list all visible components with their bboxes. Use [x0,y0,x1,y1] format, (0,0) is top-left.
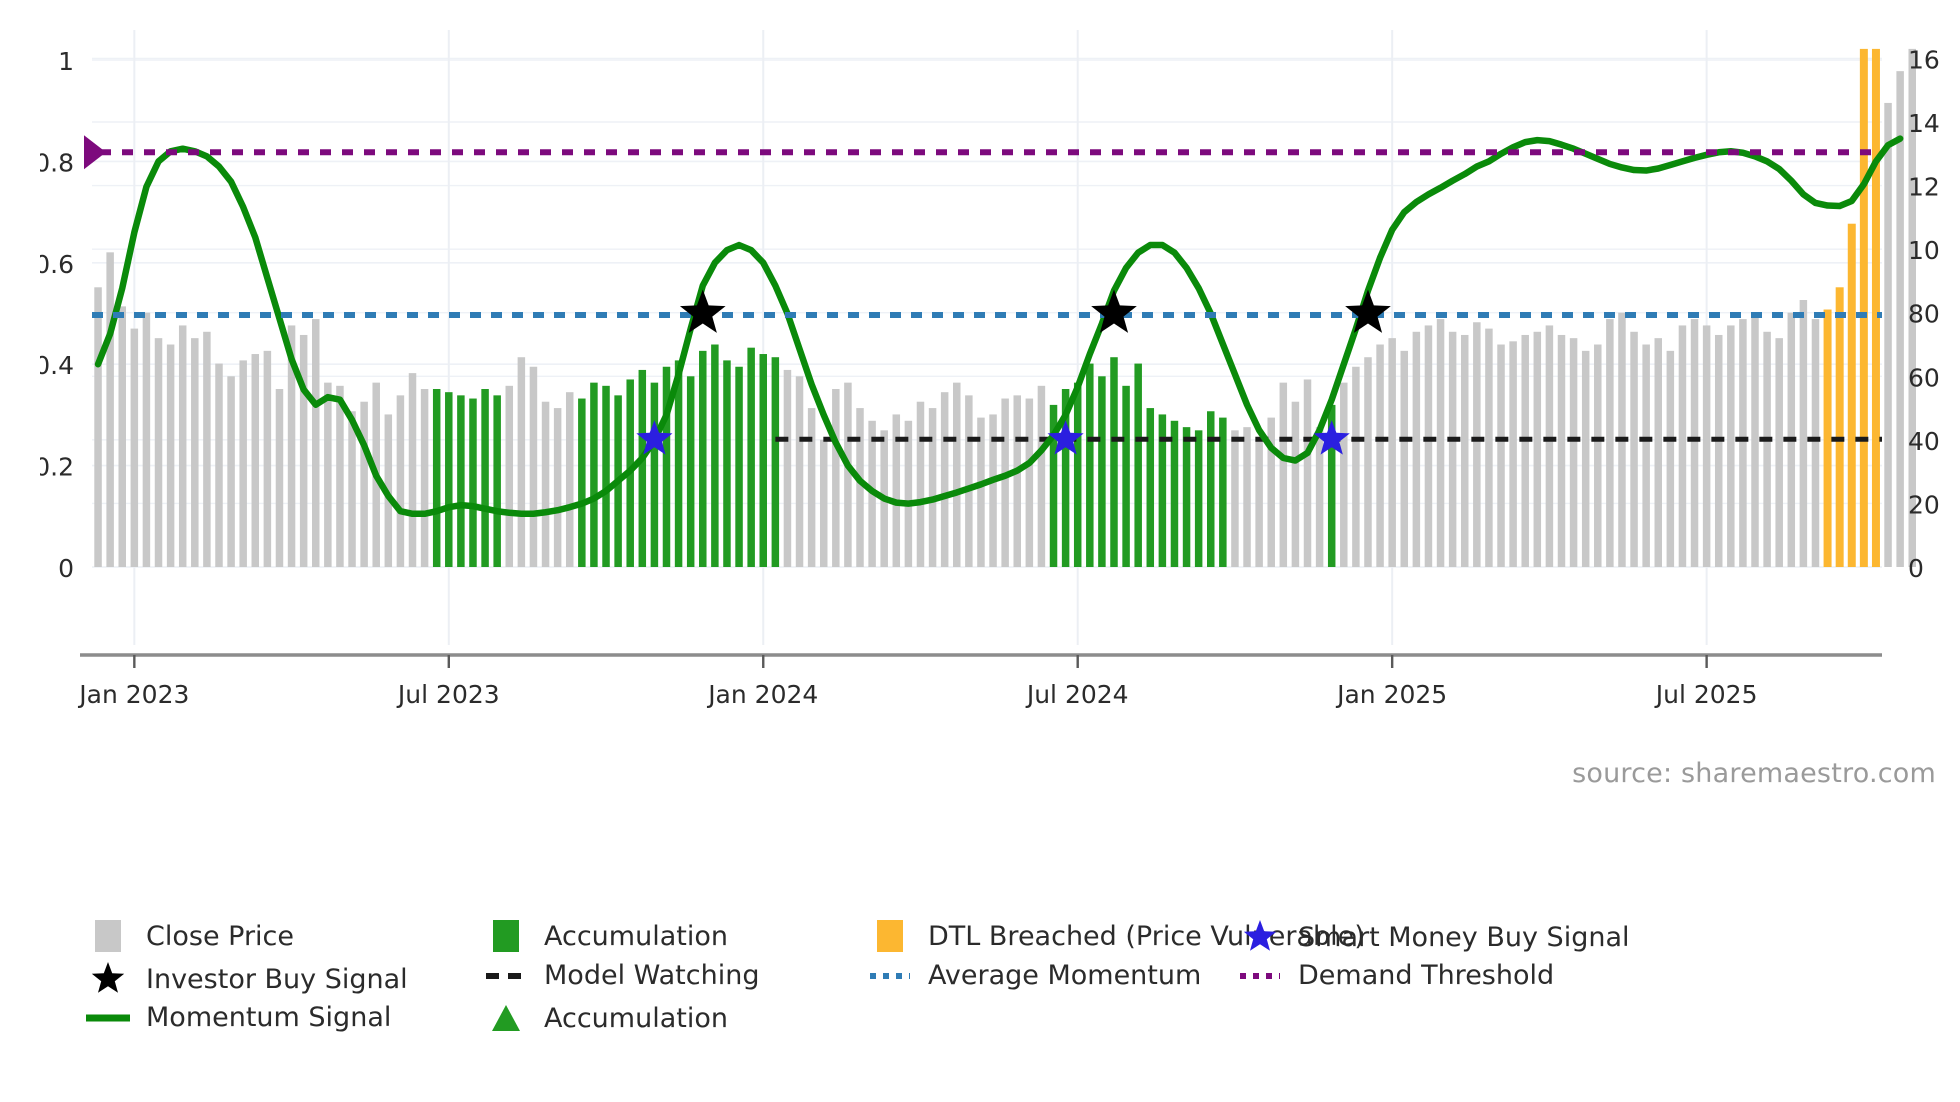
close-price-bar [143,313,150,567]
close-price-bar [699,351,706,567]
close-price-bar [1171,421,1178,567]
demand-threshold-start-marker [84,135,106,169]
chart-root: Jan 2023Jul 2023Jan 2024Jul 2024Jan 2025… [0,0,1960,1102]
close-price-bar [397,395,404,567]
y-axis-left-tick-label: 0.8 [40,148,74,177]
y-axis-right-tick-label: 60 [1908,363,1940,392]
x-tick-label: Jan 2023 [77,680,189,709]
close-price-bar [1292,402,1299,567]
close-price-bar [518,357,525,567]
square-icon [86,918,130,954]
close-price-bar [1824,310,1832,567]
close-price-bar [639,370,646,567]
close-price-bar [602,386,609,567]
legend-item-close-price[interactable]: Close Price [86,918,294,954]
close-price-bar [1558,335,1565,567]
close-price-bar [1473,322,1480,567]
momentum-signal-line [98,139,1900,514]
close-price-bar [1497,345,1504,568]
close-price-bar [131,329,138,567]
y-axis-right-tick-label: 140 [1908,109,1940,138]
y-axis-left-tick-label: 0.6 [40,250,74,279]
close-price-bar [578,399,585,567]
close-price-bar [1074,383,1081,567]
close-price-bar [735,367,742,567]
close-price-bar [94,287,101,567]
close-price-bar [264,351,271,567]
legend-label: Investor Buy Signal [146,964,408,995]
close-price-bar [1231,430,1238,567]
close-price-bar [1026,399,1033,567]
close-price-bar [239,360,246,567]
close-price-bar [1594,345,1601,568]
close-price-bar [1255,440,1262,567]
close-price-bar [1013,395,1020,567]
close-price-bar [1570,338,1577,567]
close-price-bar [566,392,573,567]
close-price-bar [1655,338,1662,567]
close-price-bar [1147,408,1154,567]
close-price-bar [1751,316,1758,567]
close-price-bar [203,332,210,567]
legend-label: Model Watching [544,960,759,991]
close-price-bar [481,389,488,567]
close-price-bar [1280,383,1287,567]
close-price-bar [1401,351,1408,567]
close-price-bar [832,389,839,567]
y-axis-right-tick-label: 20 [1908,490,1940,519]
investor-buy-signal-star [680,290,726,333]
close-price-bar [1642,345,1649,568]
legend-label: Accumulation [544,921,728,952]
close-price-bar [1195,430,1202,567]
x-tick-label: Jan 2025 [1335,680,1447,709]
close-price-bar [336,386,343,567]
close-price-bar [1364,357,1371,567]
close-price-bar [118,306,125,567]
legend-item-momentum-signal[interactable]: Momentum Signal [86,1002,391,1033]
close-price-bar [687,376,694,567]
close-price-bar [590,383,597,567]
close-price-bar [1207,411,1214,567]
legend-row: Close PriceAccumulationDTL Breached (Pri… [86,918,1886,960]
close-price-bar [1691,319,1698,567]
close-price-bar [1122,386,1129,567]
legend-label: Close Price [146,921,294,952]
y-axis-right-tick-label: 160 [1908,45,1940,74]
close-price-bar [1425,325,1432,567]
close-price-bar [348,411,355,567]
close-price-bar [723,360,730,567]
close-price-bar [252,354,259,567]
close-price-bar [445,392,452,567]
legend-label: Accumulation [544,1003,728,1034]
close-price-bar [929,408,936,567]
chart-plot-area: Jan 2023Jul 2023Jan 2024Jul 2024Jan 2025… [40,30,1840,710]
legend-label: Average Momentum [928,960,1201,991]
close-price-bar [1485,329,1492,567]
square-icon [868,918,912,954]
dash-icon [484,966,528,986]
legend-item-accumulation-bar[interactable]: Accumulation [484,918,728,954]
legend-item-investor-buy-signal[interactable]: Investor Buy Signal [86,960,408,998]
close-price-bar [457,395,464,567]
source-note: source: sharemaestro.com [1572,758,1936,789]
close-price-bar [844,383,851,567]
close-price-bar [905,421,912,567]
close-price-bar [941,392,948,567]
y-axis-left-tick-label: 0 [58,554,74,583]
triangle-icon [484,1002,528,1034]
close-price-bar [1110,357,1117,567]
close-price-bar [360,402,367,567]
dot-icon [868,966,912,986]
close-price-bar [808,408,815,567]
star-icon [86,960,130,998]
close-price-bar [1086,364,1093,567]
close-price-bar [1630,332,1637,567]
close-price-bar [1461,335,1468,567]
close-price-bar [493,395,500,567]
close-price-bar [917,402,924,567]
close-price-bar [300,335,307,567]
y-axis-left-tick-label: 0.2 [40,453,74,482]
close-price-bar [1836,287,1844,567]
close-price-bar [409,373,416,567]
close-price-bar [796,376,803,567]
close-price-bar [711,345,718,568]
chart-svg: Jan 2023Jul 2023Jan 2024Jul 2024Jan 2025… [40,30,1940,710]
close-price-bar [1703,325,1710,567]
close-price-bar [1546,325,1553,567]
close-price-bar [1352,367,1359,567]
close-price-bar [1509,341,1516,567]
close-price-bar [312,319,319,567]
close-price-bar [1388,338,1395,567]
close-price-bar [530,367,537,567]
close-price-bar [1413,332,1420,567]
close-price-bar [506,386,513,567]
close-price-bar [1667,351,1674,567]
close-price-bar [1340,383,1347,567]
close-price-bar [433,389,440,567]
close-price-bar [1848,224,1856,567]
close-price-bar [965,395,972,567]
close-price-bar [820,440,827,567]
y-axis-right-tick-label: 100 [1908,236,1940,265]
close-price-bar [1449,332,1456,567]
y-axis-right-tick-label: 0 [1908,554,1924,583]
close-price-bar [1800,300,1807,567]
close-price-bar [1812,319,1819,567]
close-price-bar [1763,332,1770,567]
x-tick-label: Jul 2024 [1025,680,1129,709]
close-price-bar [1001,399,1008,567]
legend-item-accumulation-triangle[interactable]: Accumulation [484,1002,728,1034]
y-axis-right-tick-label: 80 [1908,300,1940,329]
close-price-bar [1727,325,1734,567]
close-price-bar [1098,376,1105,567]
close-price-bar [421,389,428,567]
close-price-bar [1884,103,1891,567]
legend-item-demand-threshold[interactable]: Demand Threshold [1238,960,1554,991]
legend-label: Momentum Signal [146,1002,391,1033]
close-price-bar [953,383,960,567]
close-price-bar [1183,427,1190,567]
close-price-bar [1715,335,1722,567]
y-axis-left-tick-label: 0.4 [40,351,74,380]
close-price-bar [542,402,549,567]
investor-buy-signal-star [1345,290,1391,333]
close-price-bar [227,376,234,567]
close-price-bar [179,325,186,567]
close-price-bar [1582,351,1589,567]
legend-item-smart-money-buy-signal[interactable]: Smart Money Buy Signal [1238,918,1630,956]
close-price-bar [760,354,767,567]
line-icon [86,1008,130,1028]
close-price-bar [167,345,174,568]
close-price-bar [1038,386,1045,567]
legend-label: Smart Money Buy Signal [1298,922,1630,953]
close-price-bar [1872,49,1880,567]
close-price-bar [1679,325,1686,567]
dot-icon [1238,966,1282,986]
close-price-bar [1376,345,1383,568]
close-price-bar [1521,335,1528,567]
legend-row: Momentum SignalAccumulation [86,1002,1886,1044]
close-price-bar [554,408,561,567]
square-icon [484,918,528,954]
close-price-bar [1243,427,1250,567]
close-price-bar [1739,319,1746,567]
chart-legend: Close PriceAccumulationDTL Breached (Pri… [86,918,1886,1048]
x-tick-label: Jul 2025 [1654,680,1758,709]
close-price-bar [106,252,113,567]
close-price-bar [1437,319,1444,567]
legend-label: Demand Threshold [1298,960,1554,991]
x-tick-label: Jul 2023 [396,680,500,709]
x-tick-label: Jan 2024 [706,680,818,709]
close-price-bar [1534,332,1541,567]
close-price-bar [651,383,658,567]
close-price-bar [1606,319,1613,567]
close-price-bar [1896,71,1903,567]
y-axis-left-tick-label: 1 [58,47,74,76]
legend-item-model-watching[interactable]: Model Watching [484,960,759,991]
close-price-bar [856,408,863,567]
close-price-bar [324,383,331,567]
close-price-bar [747,348,754,567]
close-price-bar [1775,338,1782,567]
star-icon [1238,918,1282,956]
legend-item-average-momentum[interactable]: Average Momentum [868,960,1201,991]
legend-row: Investor Buy SignalModel WatchingAverage… [86,960,1886,1002]
y-axis-right-tick-label: 40 [1908,427,1940,456]
close-price-bar [276,389,283,567]
close-price-bar [784,370,791,567]
close-price-bar [215,364,222,567]
close-price-bar [1304,379,1311,567]
close-price-bar [155,338,162,567]
close-price-bar [1316,427,1323,567]
close-price-bar [469,399,476,567]
y-axis-right-tick-label: 120 [1908,173,1940,202]
close-price-bar [772,357,779,567]
close-price-bar [1134,364,1141,567]
close-price-bar [1860,49,1868,567]
close-price-bar [191,338,198,567]
